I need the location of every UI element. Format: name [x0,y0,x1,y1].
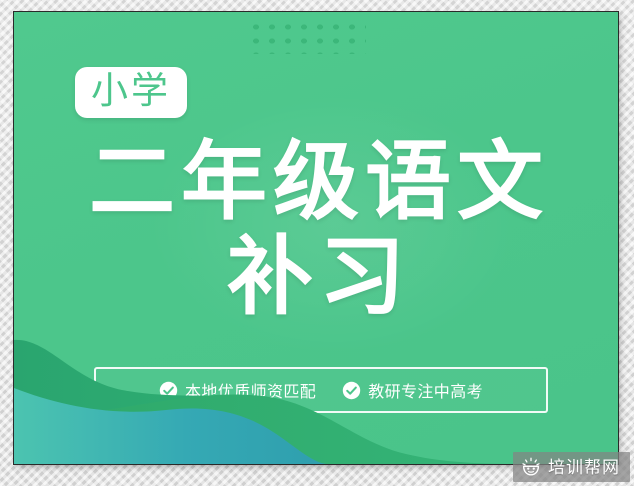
title-line-primary: 二年级语文 [20,140,618,225]
level-badge-label: 小学 [91,72,171,109]
dot-grid-icon [248,20,366,54]
wave-shape [14,334,618,464]
poster-card: 小学 二年级语文 补习 本地优质师资匹配 教研专注中高考 [14,12,618,464]
sun-face-icon [521,457,541,477]
poster-image: 小学 二年级语文 补习 本地优质师资匹配 教研专注中高考 [0,0,634,486]
watermark: 培训帮网 [513,452,630,482]
level-badge: 小学 [75,67,187,118]
title-line-secondary: 补习 [20,235,618,320]
page-title: 二年级语文 补习 [14,140,618,320]
watermark-label: 培训帮网 [548,459,620,476]
wave-decoration [14,334,618,464]
